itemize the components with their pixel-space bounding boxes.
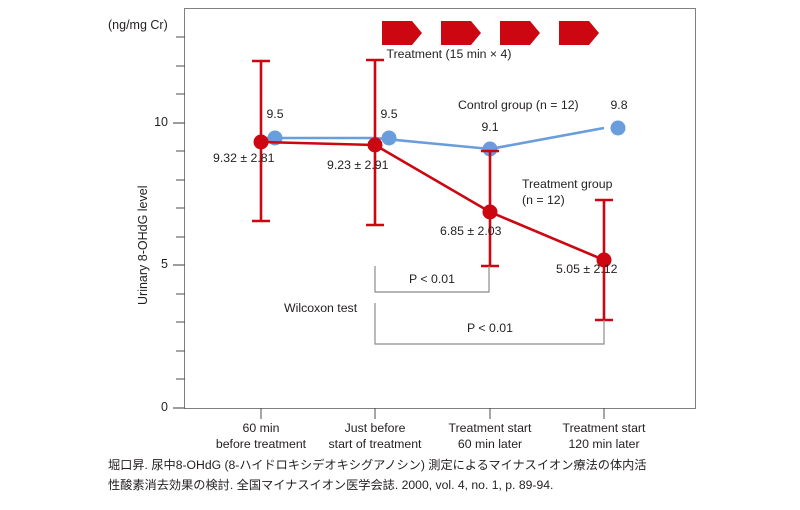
x-category-4: Treatment start 120 min later	[539, 421, 669, 452]
treatment-point-2	[368, 138, 383, 153]
treatment-value-1: 9.32 ± 2.81	[213, 151, 274, 165]
x-category-1-line1: 60 min	[196, 421, 326, 437]
treatment-series-label-line1: Treatment group	[522, 177, 612, 191]
x-category-3-line2: 60 min later	[425, 437, 555, 453]
control-value-2: 9.5	[364, 107, 414, 121]
x-category-2: Just before start of treatment	[310, 421, 440, 452]
treatment-arrow-1	[382, 21, 422, 45]
statistical-test-label: Wilcoxon test	[284, 301, 357, 315]
figure-root: (ng/mg Cr) Urinary 8-OHdG level 10 5 0 T…	[0, 0, 800, 510]
treatment-value-4: 5.05 ± 2.12	[556, 262, 617, 276]
p-value-2: P < 0.01	[440, 321, 540, 335]
x-category-3: Treatment start 60 min later	[425, 421, 555, 452]
x-category-4-line2: 120 min later	[539, 437, 669, 453]
x-category-2-line2: start of treatment	[310, 437, 440, 453]
y-tick-10: 10	[140, 115, 168, 129]
x-category-1: 60 min before treatment	[196, 421, 326, 452]
y-tick-5: 5	[140, 257, 168, 271]
treatment-value-3: 6.85 ± 2.03	[440, 224, 501, 238]
treatment-point-3	[483, 205, 498, 220]
x-category-4-line1: Treatment start	[539, 421, 669, 437]
control-series-line	[261, 128, 604, 149]
x-category-3-line1: Treatment start	[425, 421, 555, 437]
y-axis-major-ticks	[173, 123, 185, 408]
treatment-arrow-group	[382, 21, 599, 45]
y-axis-unit-label: (ng/mg Cr)	[108, 18, 168, 32]
treatment-series-label-line2: (n = 12)	[522, 193, 565, 207]
p-value-1: P < 0.01	[382, 272, 482, 286]
control-value-3: 9.1	[465, 120, 515, 134]
x-category-1-line2: before treatment	[196, 437, 326, 453]
treatment-value-2: 9.23 ± 2.91	[327, 158, 388, 172]
treatment-arrow-3	[500, 21, 540, 45]
treatment-point-1	[254, 135, 269, 150]
x-category-2-line1: Just before	[310, 421, 440, 437]
y-axis-minor-ticks	[176, 37, 185, 379]
control-point-2	[382, 131, 397, 146]
control-value-4: 9.8	[594, 98, 644, 112]
control-series-label: Control group (n = 12)	[458, 98, 579, 112]
figure-caption: 堀口昇. 尿中8-OHdG (8-ハイドロキシデオキシグアノシン) 測定によるマ…	[108, 455, 748, 495]
y-tick-0: 0	[140, 400, 168, 414]
x-axis-ticks	[261, 408, 604, 419]
figure-caption-line1: 堀口昇. 尿中8-OHdG (8-ハイドロキシデオキシグアノシン) 測定によるマ…	[108, 455, 748, 475]
y-axis-title: Urinary 8-OHdG level	[136, 186, 150, 305]
figure-caption-line2: 性酸素消去効果の検討. 全国マイナスイオン医学会誌. 2000, vol. 4,…	[108, 475, 748, 495]
control-value-1: 9.5	[250, 107, 300, 121]
treatment-period-label: Treatment (15 min × 4)	[329, 47, 569, 61]
treatment-arrow-4	[559, 21, 599, 45]
treatment-arrow-2	[441, 21, 481, 45]
control-point-4	[611, 121, 626, 136]
